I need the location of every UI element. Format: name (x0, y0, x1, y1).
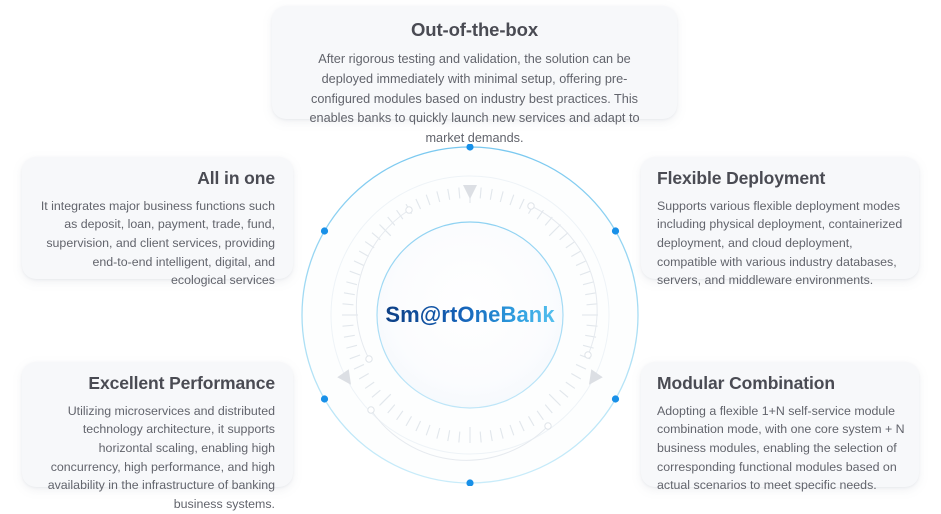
feature-card-body: After rigorous testing and validation, t… (294, 50, 655, 148)
feature-card-title: Flexible Deployment (657, 168, 905, 190)
feature-card-body: It integrates major business functions s… (36, 197, 275, 290)
feature-card-body: Utilizing microservices and distributed … (36, 402, 275, 514)
feature-card-all-in-one[interactable]: All in one It integrates major business … (22, 157, 293, 279)
feature-card-title: Modular Combination (657, 373, 905, 395)
feature-card-title: Excellent Performance (36, 373, 275, 395)
ring-node-dot-4 (321, 395, 328, 402)
arc-endpoint-icon (406, 207, 412, 213)
central-ring-graphic: Sm@rtOneBank (299, 144, 641, 486)
feature-card-out-of-the-box[interactable]: Out-of-the-box After rigorous testing an… (272, 6, 677, 119)
arc-endpoint-icon (585, 352, 591, 358)
ring-node-dot-2 (321, 227, 328, 234)
feature-card-excellent-performance[interactable]: Excellent Performance Utilizing microser… (22, 362, 293, 487)
arc-endpoint-icon (528, 203, 534, 209)
feature-card-title: All in one (36, 168, 275, 190)
feature-card-body: Supports various flexible deployment mod… (657, 197, 905, 290)
arc-endpoint-icon (545, 423, 551, 429)
ring-node-dot-5 (612, 395, 619, 402)
feature-card-flexible-deployment[interactable]: Flexible Deployment Supports various fle… (641, 157, 919, 279)
inner-circle (377, 222, 563, 408)
ring-node-dot-3 (612, 227, 619, 234)
feature-card-body: Adopting a flexible 1+N self-service mod… (657, 402, 905, 495)
feature-card-modular-combination[interactable]: Modular Combination Adopting a flexible … (641, 362, 919, 487)
feature-overview-stage: Out-of-the-box After rigorous testing an… (0, 0, 941, 500)
arc-endpoint-icon (368, 407, 374, 413)
feature-card-title: Out-of-the-box (294, 18, 655, 41)
arc-endpoint-icon (366, 356, 372, 362)
ring-svg (299, 144, 641, 486)
